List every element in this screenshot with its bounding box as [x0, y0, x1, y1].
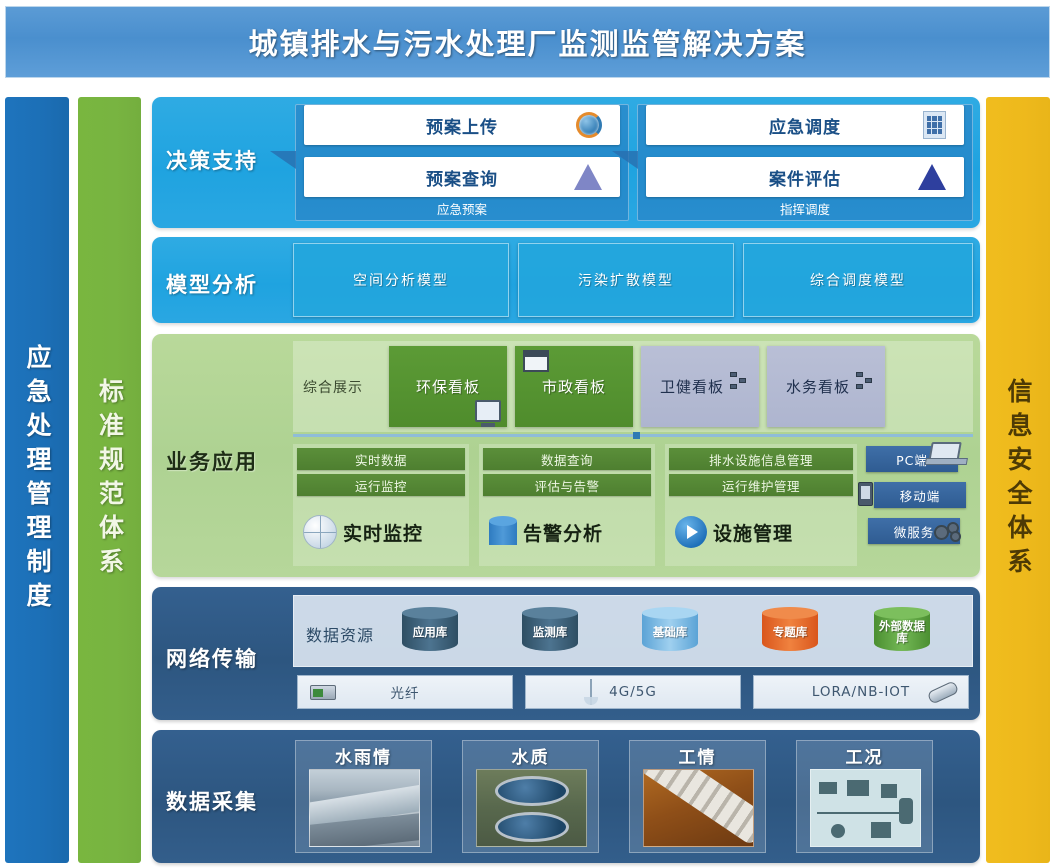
collect-card-rainfall-label: 水雨情 — [296, 743, 431, 768]
dashboard-environment-label: 环保看板 — [416, 376, 480, 397]
tag-operation-monitoring[interactable]: 运行监控 — [297, 474, 465, 496]
plan-group-arrow — [270, 151, 296, 169]
terminal-pc-label: PC端 — [896, 450, 928, 469]
dashboard-health-label: 卫健看板 — [660, 376, 724, 397]
tag-operation-maintenance[interactable]: 运行维护管理 — [669, 474, 853, 496]
network-link-cellular-label: 4G/5G — [609, 684, 657, 700]
dashboard-strip-label: 综合展示 — [303, 377, 363, 397]
fiber-icon — [310, 685, 336, 700]
tag-operation-monitoring-label: 运行监控 — [355, 476, 407, 495]
database-topic-label: 专题库 — [762, 607, 818, 657]
terminal-column: PC端 移动端 微服务 — [864, 444, 972, 566]
model-card-pollution[interactable]: 污染扩散模型 — [518, 243, 734, 317]
tag-realtime-data[interactable]: 实时数据 — [297, 448, 465, 470]
tag-assessment-alarm[interactable]: 评估与告警 — [483, 474, 651, 496]
model-card-dispatch[interactable]: 综合调度模型 — [743, 243, 973, 317]
business-main-monitoring[interactable]: 实时监控 — [297, 502, 465, 562]
business-main-monitoring-label: 实时监控 — [343, 519, 423, 546]
database-basic[interactable]: 基础库 — [642, 607, 698, 657]
terminal-mobile-label: 移动端 — [900, 486, 941, 505]
sensor-icon — [927, 680, 960, 704]
business-main-alarm-label: 告警分析 — [523, 519, 603, 546]
business-application-panel: 业务应用 综合展示 环保看板 市政看板 卫健看板 水务看板 — [152, 334, 980, 577]
cycle-icon — [576, 112, 602, 138]
sidebar-emergency-label: 应急处理管理制度 — [19, 344, 55, 616]
emergency-plan-group: 预案上传 预案查询 应急预案 — [295, 104, 629, 221]
collect-card-conditions-label: 工况 — [797, 743, 932, 768]
main-stack: 决策支持 预案上传 预案查询 应急预案 应急调度 — [152, 97, 980, 863]
dashboard-municipal[interactable]: 市政看板 — [515, 346, 633, 427]
collect-card-works-label: 工情 — [630, 743, 765, 768]
business-column-alarm: 数据查询 评估与告警 告警分析 — [479, 444, 655, 566]
pyramid-icon — [574, 164, 602, 190]
pyramid-dark-icon — [918, 164, 946, 190]
business-main-alarm[interactable]: 告警分析 — [483, 502, 651, 562]
business-main-facility-label: 设施管理 — [713, 519, 793, 546]
card-plan-upload-label: 预案上传 — [426, 113, 498, 138]
collect-card-water-quality-label: 水质 — [463, 743, 598, 768]
command-group-arrow — [612, 151, 638, 169]
model-card-spatial[interactable]: 空间分析模型 — [293, 243, 509, 317]
dashboard-strip: 综合展示 环保看板 市政看板 卫健看板 水务看板 — [293, 341, 973, 432]
monitor-icon — [475, 400, 501, 422]
antenna-icon — [584, 679, 598, 705]
tag-assessment-alarm-label: 评估与告警 — [534, 476, 599, 495]
card-plan-query[interactable]: 预案查询 — [304, 157, 620, 197]
database-monitoring-label: 监测库 — [522, 607, 578, 657]
business-application-label: 业务应用 — [166, 446, 258, 476]
sidebar-information-security: 信息安全体系 — [986, 97, 1050, 863]
model-analysis-label: 模型分析 — [166, 269, 258, 299]
network-link-fiber[interactable]: 光纤 — [297, 675, 513, 709]
page-title-banner: 城镇排水与污水处理厂监测监管解决方案 — [5, 6, 1050, 78]
database-icon — [489, 516, 517, 548]
card-case-assessment-label: 案件评估 — [769, 165, 841, 190]
flow-icon — [856, 372, 872, 390]
network-link-cellular[interactable]: 4G/5G — [525, 675, 741, 709]
scada-photo — [810, 769, 921, 847]
database-topic[interactable]: 专题库 — [762, 607, 818, 657]
database-monitoring[interactable]: 监测库 — [522, 607, 578, 657]
tanks-photo — [476, 769, 587, 847]
command-dispatch-group: 应急调度 案件评估 指挥调度 — [637, 104, 973, 221]
canal-photo — [309, 769, 420, 847]
dashboard-environment[interactable]: 环保看板 — [389, 346, 507, 427]
data-collection-panel: 数据采集 水雨情 水质 工情 工况 — [152, 730, 980, 863]
network-link-fiber-label: 光纤 — [391, 682, 420, 702]
data-collection-label: 数据采集 — [166, 786, 258, 816]
tag-operation-maintenance-label: 运行维护管理 — [722, 476, 800, 495]
collect-card-water-quality[interactable]: 水质 — [462, 740, 599, 853]
card-plan-upload[interactable]: 预案上传 — [304, 105, 620, 145]
terminal-mobile[interactable]: 移动端 — [874, 482, 966, 508]
network-link-lpwan[interactable]: LORA/NB-IOT — [753, 675, 969, 709]
tag-drainage-facility-info-label: 排水设施信息管理 — [709, 450, 813, 469]
card-case-assessment[interactable]: 案件评估 — [646, 157, 964, 197]
model-analysis-panel: 模型分析 空间分析模型 污染扩散模型 综合调度模型 — [152, 237, 980, 323]
phone-icon — [858, 482, 873, 506]
card-emergency-dispatch-label: 应急调度 — [769, 113, 841, 138]
business-main-facility[interactable]: 设施管理 — [669, 502, 853, 562]
dashboard-water-affairs-label: 水务看板 — [786, 376, 850, 397]
database-application[interactable]: 应用库 — [402, 607, 458, 657]
database-external[interactable]: 外部数据库 — [874, 607, 930, 657]
collect-card-works[interactable]: 工情 — [629, 740, 766, 853]
card-emergency-dispatch[interactable]: 应急调度 — [646, 105, 964, 145]
database-external-label: 外部数据库 — [874, 607, 930, 657]
terminal-microservice-label: 微服务 — [894, 522, 935, 541]
play-icon — [675, 516, 707, 548]
emergency-plan-group-title: 应急预案 — [296, 199, 628, 218]
flow-icon — [730, 372, 746, 390]
tag-drainage-facility-info[interactable]: 排水设施信息管理 — [669, 448, 853, 470]
collect-card-conditions[interactable]: 工况 — [796, 740, 933, 853]
database-basic-label: 基础库 — [642, 607, 698, 657]
network-link-lpwan-label: LORA/NB-IOT — [812, 684, 910, 700]
decision-support-panel: 决策支持 预案上传 预案查询 应急预案 应急调度 — [152, 97, 980, 228]
page-title: 城镇排水与污水处理厂监测监管解决方案 — [248, 21, 806, 63]
data-resource-strip: 数据资源 应用库 监测库 基础库 — [293, 595, 973, 667]
sidebar-emergency-management: 应急处理管理制度 — [5, 97, 69, 863]
tag-realtime-data-label: 实时数据 — [355, 450, 407, 469]
sidebar-standards-system: 标准规范体系 — [78, 97, 141, 863]
dashboard-water-affairs[interactable]: 水务看板 — [767, 346, 885, 427]
network-link-row: 光纤 4G/5G LORA/NB-IOT — [293, 675, 973, 711]
data-resource-label: 数据资源 — [306, 622, 374, 646]
tag-data-query-label: 数据查询 — [541, 450, 593, 469]
dashboard-health[interactable]: 卫健看板 — [641, 346, 759, 427]
sidebar-security-label: 信息安全体系 — [1000, 378, 1036, 582]
tag-data-query[interactable]: 数据查询 — [483, 448, 651, 470]
command-dispatch-group-title: 指挥调度 — [638, 199, 972, 218]
model-card-dispatch-label: 综合调度模型 — [810, 270, 906, 290]
business-column-monitoring: 实时数据 运行监控 实时监控 — [293, 444, 469, 566]
card-plan-query-label: 预案查询 — [426, 165, 498, 190]
grid-icon — [923, 111, 946, 139]
decision-support-label: 决策支持 — [166, 145, 258, 175]
business-column-facility: 排水设施信息管理 运行维护管理 设施管理 — [665, 444, 857, 566]
model-card-spatial-label: 空间分析模型 — [353, 270, 449, 290]
laptop-icon — [928, 442, 962, 462]
architecture-diagram: 城镇排水与污水处理厂监测监管解决方案 应急处理管理制度 标准规范体系 信息安全体… — [0, 0, 1055, 868]
model-card-pollution-label: 污染扩散模型 — [578, 270, 674, 290]
database-application-label: 应用库 — [402, 607, 458, 657]
network-transmission-label: 网络传输 — [166, 643, 258, 673]
dashboard-divider — [293, 434, 973, 437]
window-icon — [523, 350, 549, 372]
sidebar-standards-label: 标准规范体系 — [92, 378, 128, 582]
globe-icon — [303, 515, 337, 549]
collect-card-rainfall[interactable]: 水雨情 — [295, 740, 432, 853]
pipe-photo — [643, 769, 754, 847]
network-transmission-panel: 网络传输 数据资源 应用库 监测库 基础库 — [152, 587, 980, 720]
dashboard-municipal-label: 市政看板 — [542, 376, 606, 397]
